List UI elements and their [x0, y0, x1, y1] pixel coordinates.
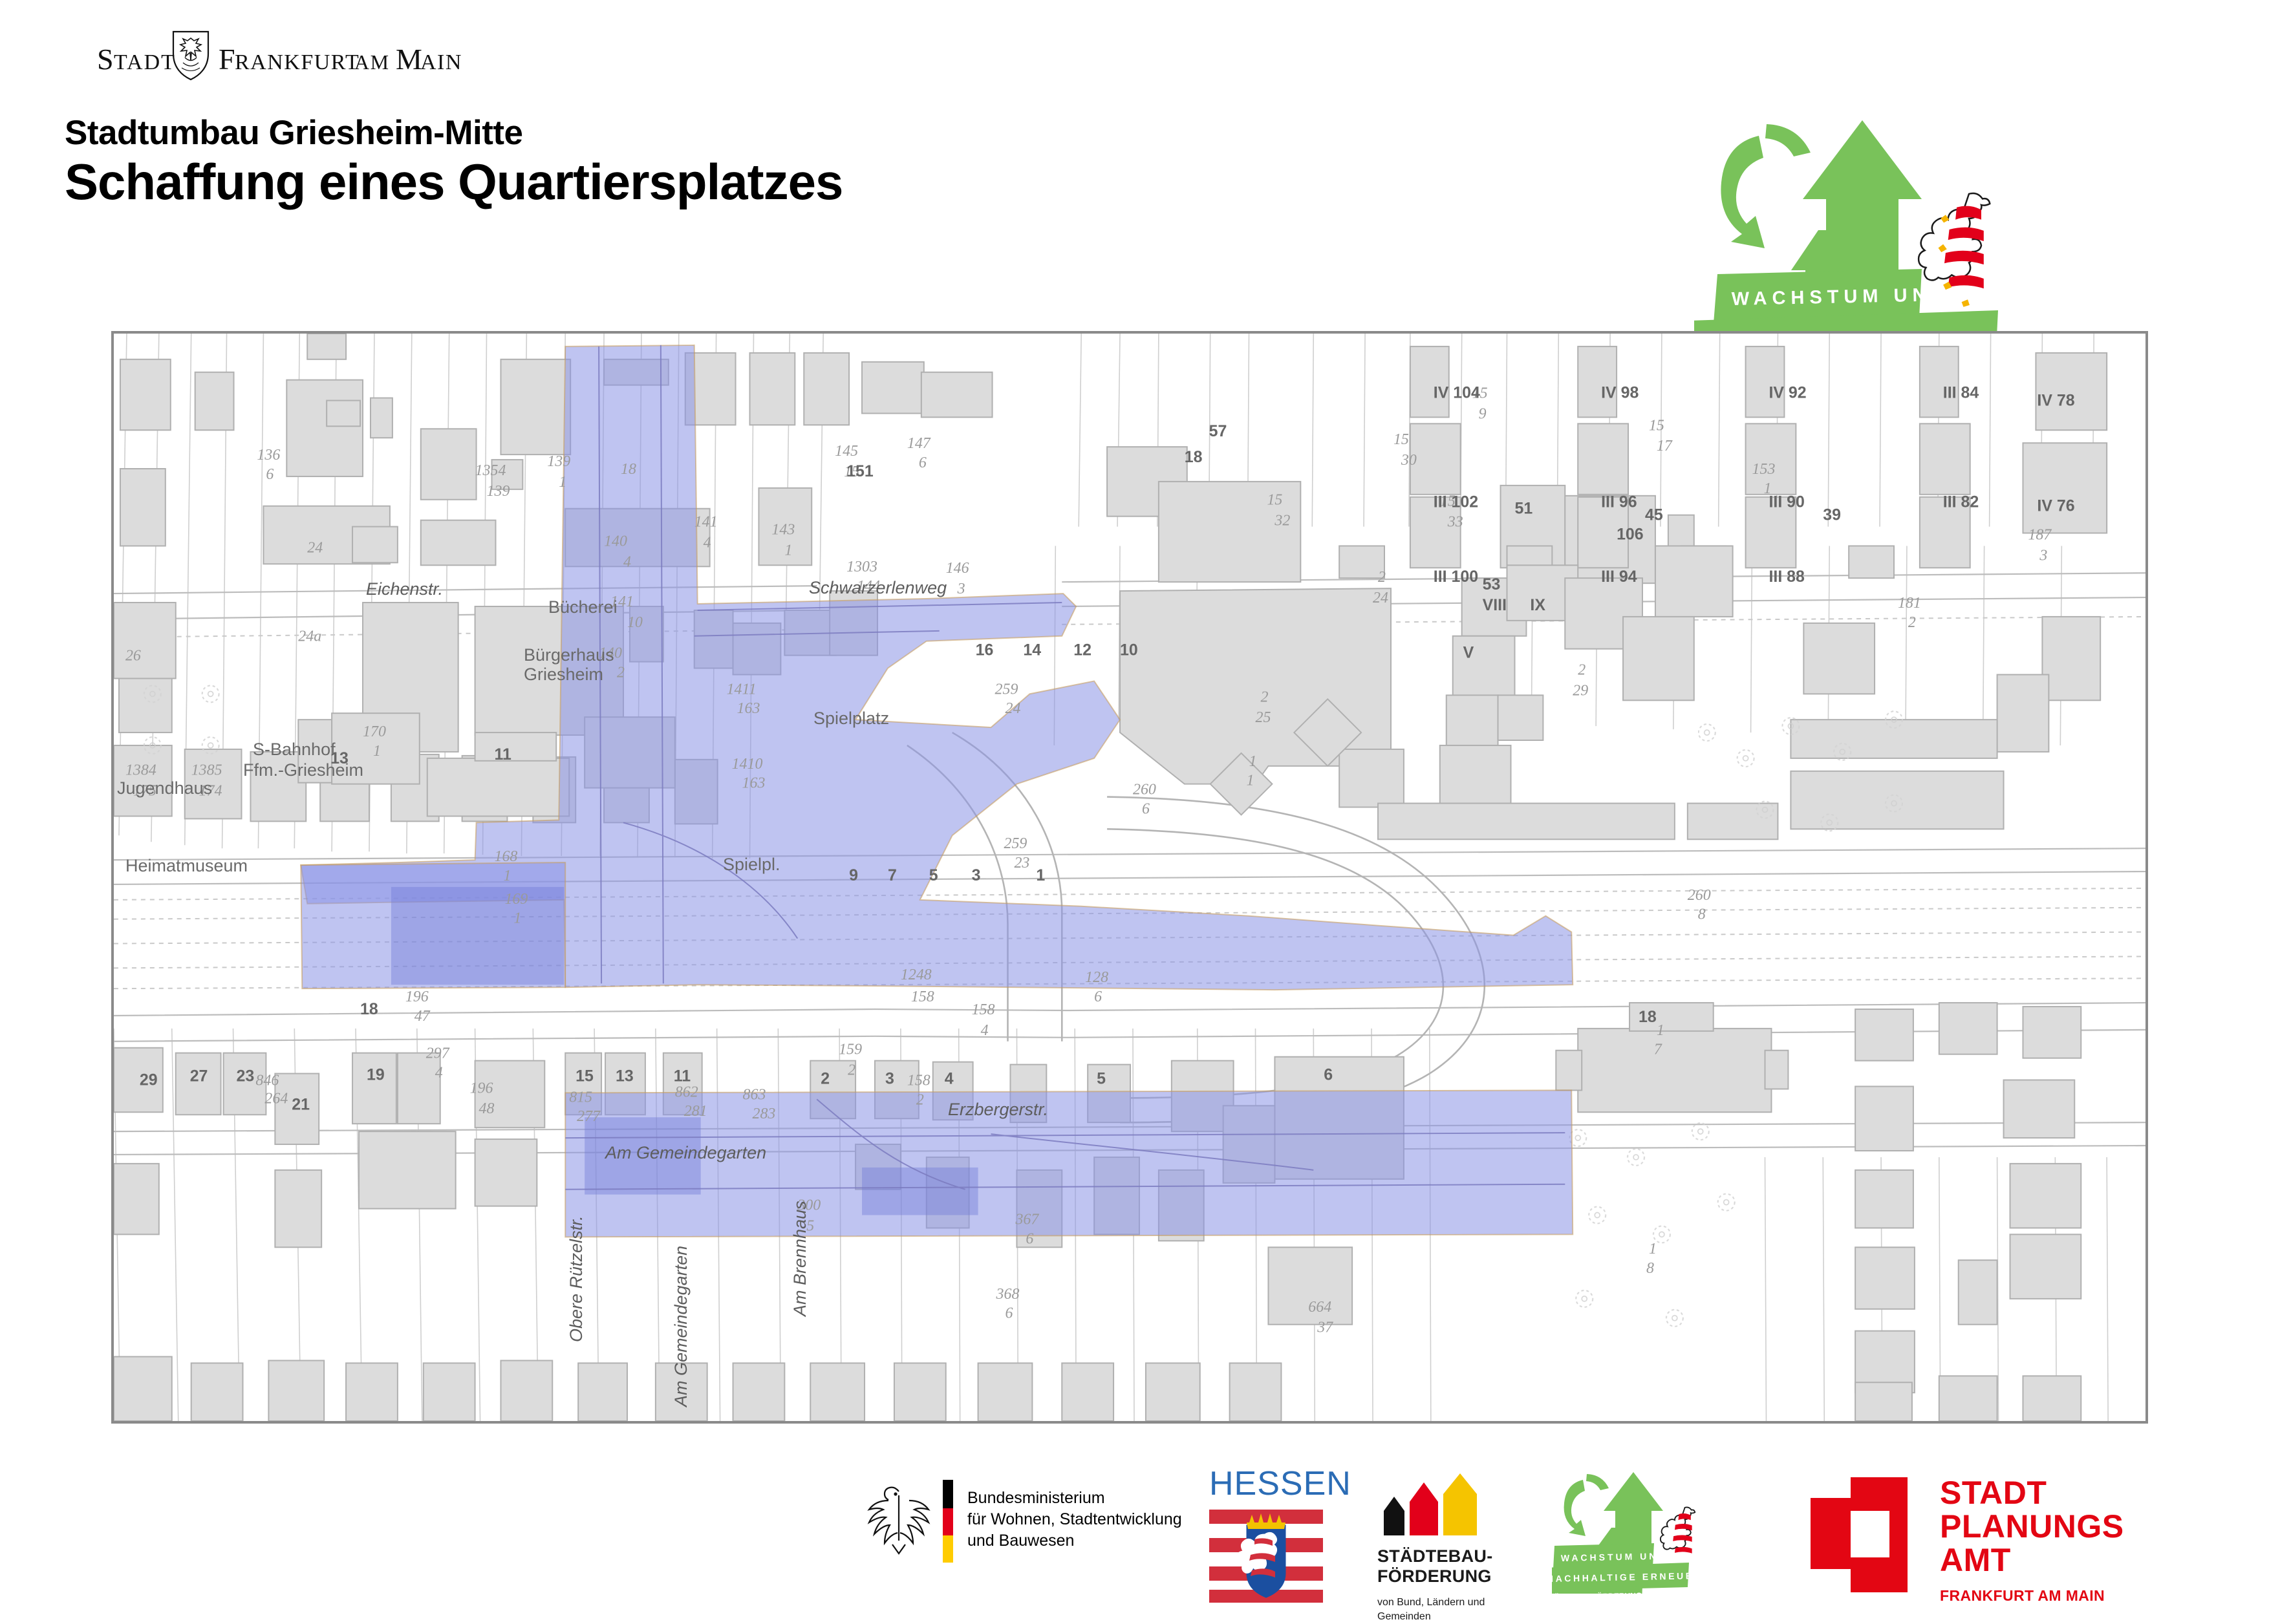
- svg-text:3: 3: [972, 866, 981, 884]
- svg-text:1248: 1248: [901, 967, 932, 983]
- svg-text:IX: IX: [1530, 596, 1545, 614]
- svg-text:187: 187: [2028, 527, 2052, 544]
- svg-text:IV 92: IV 92: [1769, 384, 1806, 402]
- svg-text:6: 6: [1142, 800, 1150, 817]
- page-title: Schaffung eines Quartiersplatzes: [65, 153, 843, 211]
- svg-text:139: 139: [487, 483, 510, 500]
- svg-text:15: 15: [1393, 431, 1409, 448]
- svg-text:2: 2: [848, 1062, 855, 1079]
- svg-text:39: 39: [1823, 506, 1841, 524]
- svg-text:27: 27: [190, 1067, 208, 1085]
- svg-text:2: 2: [1260, 689, 1268, 705]
- svg-text:281: 281: [684, 1103, 707, 1120]
- svg-text:III 84: III 84: [1943, 384, 1979, 402]
- recycle-arrow-icon-small: [1564, 1474, 1609, 1536]
- svg-text:47: 47: [414, 1008, 431, 1025]
- svg-text:6: 6: [266, 466, 274, 483]
- green-house-arrow-icon: [1791, 120, 1922, 287]
- svg-text:1411: 1411: [727, 681, 757, 698]
- svg-text:21: 21: [292, 1095, 310, 1113]
- city-logo: S TADT F RANKFURT AM M AIN: [97, 29, 511, 81]
- bundesadler-icon: [860, 1482, 938, 1560]
- svg-text:144: 144: [857, 578, 880, 595]
- svg-text:169: 169: [504, 891, 528, 908]
- svg-text:18: 18: [1639, 1008, 1657, 1026]
- svg-text:7: 7: [888, 866, 897, 884]
- hessen-logo: HESSEN: [1209, 1464, 1326, 1606]
- svg-text:33: 33: [1447, 514, 1463, 531]
- svg-text:170: 170: [363, 723, 386, 740]
- svg-text:2: 2: [821, 1070, 830, 1088]
- svg-text:168: 168: [495, 848, 518, 865]
- svg-text:163: 163: [737, 700, 760, 717]
- hessen-wordmark: HESSEN: [1209, 1464, 1326, 1503]
- svg-text:10: 10: [627, 614, 643, 631]
- svg-text:140: 140: [604, 533, 627, 550]
- hessen-flag-crest: [1209, 1506, 1323, 1603]
- svg-text:RANKFURT: RANKFURT: [235, 50, 360, 74]
- svg-text:15: 15: [575, 1067, 594, 1085]
- svg-text:15: 15: [1649, 417, 1664, 434]
- svg-text:TADT: TADT: [114, 50, 176, 74]
- svg-text:196: 196: [470, 1080, 493, 1096]
- svg-text:146: 146: [946, 560, 969, 577]
- svg-text:5: 5: [806, 1217, 814, 1234]
- bmwsb-line2: für Wohnen, Stadtentwicklung: [967, 1509, 1182, 1530]
- svg-text:2: 2: [1378, 569, 1386, 586]
- svg-text:V: V: [1463, 644, 1474, 662]
- svg-text:159: 159: [839, 1042, 862, 1058]
- svg-text:2: 2: [1908, 614, 1916, 631]
- svg-text:1: 1: [784, 542, 792, 559]
- svg-text:3: 3: [2039, 547, 2047, 564]
- svg-text:1: 1: [559, 474, 566, 491]
- svg-text:37: 37: [1317, 1319, 1333, 1336]
- svg-text:53: 53: [1483, 575, 1501, 593]
- svg-text:4: 4: [435, 1065, 443, 1082]
- svg-text:IV 98: IV 98: [1601, 384, 1639, 402]
- three-houses-icon: [1377, 1473, 1507, 1538]
- svg-text:846: 846: [255, 1072, 279, 1089]
- svg-text:18: 18: [360, 1000, 378, 1018]
- svg-text:19: 19: [367, 1066, 385, 1084]
- svg-text:57: 57: [1209, 422, 1227, 440]
- svg-text:IV 76: IV 76: [2037, 497, 2074, 515]
- svg-text:F: F: [219, 43, 235, 76]
- svg-text:277: 277: [577, 1108, 601, 1125]
- map-drawing: 1366 2424a 26 181404 14110 1402 1414 143…: [114, 334, 2145, 1421]
- svg-text:1: 1: [513, 910, 521, 927]
- svg-text:25: 25: [1256, 709, 1271, 726]
- bmwsb-logo: Bundesministerium für Wohnen, Stadtentwi…: [860, 1476, 1182, 1563]
- svg-text:283: 283: [752, 1106, 775, 1122]
- svg-text:III 88: III 88: [1769, 568, 1805, 586]
- svg-text:147: 147: [907, 435, 931, 452]
- svg-text:163: 163: [742, 775, 766, 792]
- svg-text:30: 30: [1401, 452, 1417, 469]
- svg-text:17: 17: [1657, 438, 1673, 454]
- svg-text:1410: 1410: [732, 756, 763, 773]
- svg-text:13: 13: [330, 749, 349, 767]
- spa-sub: FRANKFURT AM MAIN: [1940, 1587, 2124, 1605]
- svg-text:AM: AM: [354, 50, 390, 74]
- svg-text:297: 297: [426, 1045, 450, 1062]
- svg-text:3: 3: [885, 1070, 894, 1088]
- svg-text:VIII: VIII: [1483, 596, 1507, 614]
- svg-text:367: 367: [1015, 1211, 1039, 1228]
- svg-text:24: 24: [1373, 590, 1388, 606]
- svg-text:151: 151: [846, 462, 874, 480]
- svg-text:9: 9: [849, 866, 858, 884]
- svg-text:368: 368: [996, 1286, 1020, 1303]
- svg-text:158: 158: [911, 988, 934, 1005]
- svg-text:9: 9: [1479, 405, 1487, 422]
- svg-text:1385: 1385: [191, 762, 222, 779]
- svg-text:5: 5: [929, 866, 938, 884]
- svg-text:III 102: III 102: [1434, 493, 1478, 511]
- bmwsb-line1: Bundesministerium: [967, 1488, 1182, 1509]
- svg-text:196: 196: [405, 988, 429, 1005]
- svg-text:8: 8: [1646, 1260, 1654, 1277]
- stadtplanungsamt-logo: STADT PLANUNGS AMT FRANKFURT AM MAIN: [1811, 1472, 2124, 1605]
- svg-text:24: 24: [307, 539, 323, 556]
- svg-text:2: 2: [916, 1091, 924, 1108]
- svg-text:136: 136: [257, 447, 280, 464]
- svg-text:12: 12: [1073, 641, 1091, 659]
- svg-text:264: 264: [264, 1090, 288, 1107]
- svg-text:664: 664: [1308, 1299, 1331, 1316]
- hessen-lion-crest-small: [1661, 1507, 1695, 1553]
- svg-text:48: 48: [479, 1100, 495, 1117]
- svg-text:259: 259: [995, 681, 1018, 698]
- svg-text:1: 1: [503, 868, 511, 884]
- spa-line3: AMT: [1940, 1543, 2124, 1577]
- svg-text:6: 6: [919, 454, 927, 471]
- svg-text:300: 300: [797, 1197, 821, 1214]
- svg-text:6: 6: [1094, 988, 1102, 1005]
- svg-text:153: 153: [1752, 461, 1776, 478]
- wachstum-logo-small: WACHSTUM UND NACHHALTIGE ERNEUERUNG STÄD…: [1552, 1471, 1739, 1597]
- svg-text:26: 26: [125, 648, 141, 665]
- svg-text:18: 18: [1185, 448, 1203, 466]
- svg-text:1: 1: [1036, 866, 1045, 884]
- svg-text:4: 4: [704, 534, 711, 551]
- svg-text:141: 141: [694, 514, 718, 531]
- cadastral-map[interactable]: 1366 2424a 26 181404 14110 1402 1414 143…: [111, 331, 2148, 1424]
- svg-text:259: 259: [1004, 835, 1027, 852]
- svg-text:29: 29: [1573, 682, 1588, 699]
- spa-line2: PLANUNGS: [1940, 1510, 2124, 1543]
- svg-text:IV 104: IV 104: [1434, 384, 1480, 402]
- svg-text:15: 15: [1267, 492, 1282, 509]
- svg-text:18: 18: [621, 461, 636, 478]
- svg-text:AIN: AIN: [420, 50, 462, 74]
- project-subtitle: Stadtumbau Griesheim-Mitte: [65, 113, 522, 153]
- svg-text:175: 175: [133, 783, 156, 800]
- svg-text:10: 10: [1120, 641, 1138, 659]
- svg-text:158: 158: [907, 1072, 930, 1089]
- svg-text:4: 4: [981, 1022, 989, 1039]
- svg-text:24: 24: [1005, 700, 1020, 717]
- svg-text:174: 174: [199, 783, 222, 800]
- svg-text:29: 29: [140, 1071, 158, 1089]
- svg-text:1303: 1303: [846, 559, 877, 575]
- svg-text:1: 1: [1247, 773, 1254, 789]
- svg-text:IV 78: IV 78: [2037, 391, 2074, 409]
- svg-text:158: 158: [972, 1001, 995, 1018]
- svg-text:23: 23: [237, 1067, 255, 1085]
- svg-text:139: 139: [547, 453, 570, 470]
- svg-text:140: 140: [599, 645, 622, 662]
- svg-text:7: 7: [1654, 1042, 1662, 1058]
- svg-text:1: 1: [1249, 753, 1257, 770]
- svg-text:6: 6: [1005, 1305, 1013, 1322]
- svg-text:14: 14: [1023, 641, 1041, 659]
- svg-text:2: 2: [1578, 662, 1586, 679]
- svg-text:23: 23: [1014, 855, 1029, 871]
- svg-text:128: 128: [1085, 969, 1108, 986]
- svg-text:13: 13: [616, 1067, 634, 1085]
- staedtebaufoerderung-logo: STÄDTEBAU- FÖRDERUNG von Bund, Ländern u…: [1377, 1473, 1520, 1624]
- svg-text:M: M: [396, 43, 422, 76]
- svg-text:51: 51: [1514, 500, 1532, 518]
- svg-text:III 90: III 90: [1769, 493, 1804, 511]
- svg-text:8: 8: [1698, 906, 1706, 923]
- svg-text:III 96: III 96: [1601, 493, 1637, 511]
- bmwsb-line3: und Bauwesen: [967, 1530, 1182, 1552]
- recycle-arrow-icon: [1721, 124, 1811, 248]
- spa-line1: STADT: [1940, 1476, 2124, 1510]
- svg-text:6: 6: [1324, 1066, 1333, 1084]
- svg-text:863: 863: [743, 1086, 766, 1103]
- svg-text:6: 6: [1026, 1230, 1033, 1247]
- svg-text:1: 1: [1649, 1241, 1657, 1257]
- svg-text:181: 181: [1898, 595, 1921, 612]
- staedtebau-line1: STÄDTEBAU-: [1377, 1546, 1520, 1566]
- svg-text:24a: 24a: [298, 628, 321, 645]
- svg-text:815: 815: [569, 1089, 592, 1106]
- staedtebau-sub2: Gemeinden: [1377, 1610, 1520, 1624]
- svg-text:1354: 1354: [475, 462, 506, 479]
- svg-text:1: 1: [1657, 1022, 1664, 1039]
- svg-text:1384: 1384: [125, 762, 156, 779]
- svg-text:5: 5: [1097, 1070, 1106, 1088]
- svg-text:S: S: [97, 43, 114, 76]
- svg-text:862: 862: [675, 1084, 698, 1100]
- svg-text:141: 141: [610, 593, 634, 610]
- svg-text:106: 106: [1617, 526, 1644, 544]
- svg-text:3: 3: [957, 581, 965, 597]
- svg-text:45: 45: [1645, 506, 1663, 524]
- svg-text:11: 11: [495, 745, 511, 764]
- svg-text:143: 143: [771, 522, 795, 539]
- svg-text:11: 11: [674, 1067, 691, 1085]
- svg-text:III 100: III 100: [1434, 568, 1478, 586]
- svg-text:260: 260: [1133, 782, 1156, 798]
- svg-text:145: 145: [835, 443, 858, 460]
- svg-text:III 94: III 94: [1601, 568, 1637, 586]
- svg-text:32: 32: [1274, 513, 1290, 529]
- frankfurt-eagle-crest: [173, 32, 208, 80]
- svg-text:4: 4: [945, 1070, 954, 1088]
- svg-text:260: 260: [1688, 887, 1711, 904]
- staedtebau-sub1: von Bund, Ländern und: [1377, 1596, 1520, 1610]
- svg-text:4: 4: [623, 553, 631, 570]
- svg-text:16: 16: [976, 641, 994, 659]
- svg-text:1: 1: [373, 743, 381, 760]
- funding-logo-bar: Bundesministerium für Wohnen, Stadtentwi…: [0, 1458, 2269, 1603]
- staedtebau-line2: FÖRDERUNG: [1377, 1566, 1520, 1587]
- svg-text:2: 2: [617, 664, 625, 681]
- stadtplanungsamt-mark: [1811, 1472, 1914, 1595]
- svg-text:III 82: III 82: [1943, 493, 1979, 511]
